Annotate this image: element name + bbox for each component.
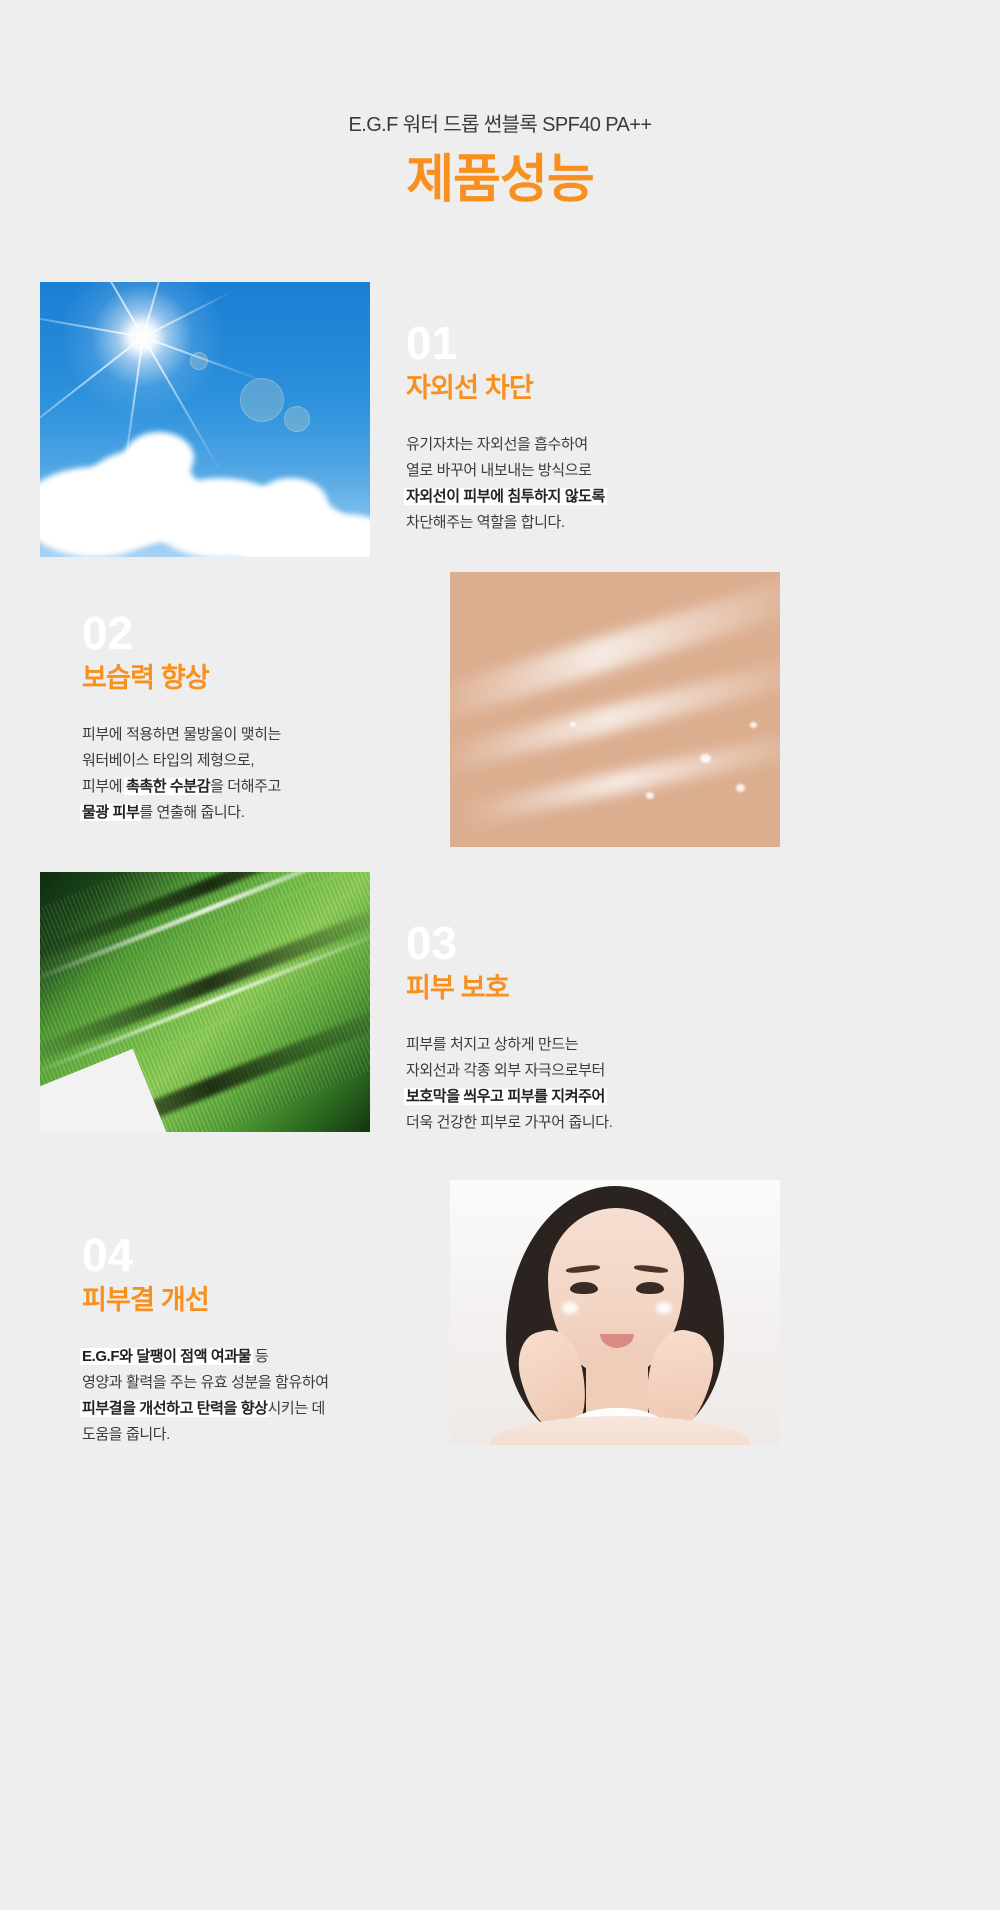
page-header: E.G.F 워터 드롭 썬블록 SPF40 PA++ 제품성능 <box>0 0 1000 211</box>
feature-text-03: 03 피부 보호 피부를 처지고 상하게 만드는 자외선과 각종 외부 자극으로… <box>406 920 826 1136</box>
body-line: 피부에 촉촉한 수분감을 더해주고 <box>82 774 442 800</box>
body-line: 유기자차는 자외선을 흡수하여 <box>406 432 826 458</box>
feature-heading-04: 피부결 개선 <box>82 1284 442 1318</box>
body-line: 차단해주는 역할을 합니다. <box>406 510 826 536</box>
product-subtitle: E.G.F 워터 드롭 썬블록 SPF40 PA++ <box>0 113 1000 137</box>
cloud-shape <box>254 478 328 530</box>
product-performance-page: E.G.F 워터 드롭 썬블록 SPF40 PA++ 제품성능 <box>0 0 1000 1910</box>
feature-section-02: 02 보습력 향상 피부에 적용하면 물방울이 맺히는 워터베이스 타입의 제형… <box>0 572 1000 852</box>
feature-text-01: 01 자외선 차단 유기자차는 자외선을 흡수하여 열로 바꾸어 내보내는 방식… <box>406 320 826 536</box>
feature-heading-03: 피부 보호 <box>406 972 826 1006</box>
model-eye <box>636 1282 664 1294</box>
water-droplet <box>700 754 711 763</box>
lens-flare <box>284 406 310 432</box>
body-line: 열로 바꾸어 내보내는 방식으로 <box>406 458 826 484</box>
body-line: 피부에 적용하면 물방울이 맺히는 <box>82 722 442 748</box>
water-droplet <box>646 792 654 799</box>
sun-sky-photo <box>40 282 370 557</box>
feature-number-03: 03 <box>406 920 826 966</box>
body-line: 워터베이스 타입의 제형으로, <box>82 748 442 774</box>
water-droplet <box>736 784 745 792</box>
body-line: 피부결을 개선하고 탄력을 향상시키는 데 <box>82 1396 442 1422</box>
sun-ray-icon <box>143 291 233 338</box>
feature-heading-02: 보습력 향상 <box>82 662 442 696</box>
feature-number-04: 04 <box>82 1232 442 1278</box>
feature-body-02: 피부에 적용하면 물방울이 맺히는 워터베이스 타입의 제형으로, 피부에 촉촉… <box>82 722 442 826</box>
water-droplet <box>750 722 757 728</box>
sky-gradient <box>40 282 370 557</box>
green-leaf-photo <box>40 872 370 1132</box>
body-line: 영양과 활력을 주는 유효 성분을 함유하여 <box>82 1370 442 1396</box>
feature-body-04: E.G.F와 달팽이 점액 여과물 등 영양과 활력을 주는 유효 성분을 함유… <box>82 1344 442 1448</box>
cream-dab <box>656 1302 672 1314</box>
model-eye <box>570 1282 598 1294</box>
feature-section-01: 01 자외선 차단 유기자차는 자외선을 흡수하여 열로 바꾸어 내보내는 방식… <box>0 282 1000 562</box>
body-line: 피부를 처지고 상하게 만드는 <box>406 1032 826 1058</box>
skin-gradient <box>450 572 780 847</box>
skin-texture-photo <box>450 572 780 847</box>
model-shoulder <box>490 1416 750 1445</box>
feature-body-01: 유기자차는 자외선을 흡수하여 열로 바꾸어 내보내는 방식으로 자외선이 피부… <box>406 432 826 536</box>
lens-flare <box>190 352 208 370</box>
body-line: 더욱 건강한 피부로 가꾸어 줍니다. <box>406 1110 826 1136</box>
feature-text-02: 02 보습력 향상 피부에 적용하면 물방울이 맺히는 워터베이스 타입의 제형… <box>82 610 442 826</box>
body-line: 보호막을 씌우고 피부를 지켜주어 <box>406 1084 826 1110</box>
feature-section-04: 04 피부결 개선 E.G.F와 달팽이 점액 여과물 등 영양과 활력을 주는… <box>0 1180 1000 1480</box>
cloud-shape <box>124 432 194 484</box>
body-line: 자외선이 피부에 침투하지 않도록 <box>406 484 826 510</box>
feature-number-01: 01 <box>406 320 826 366</box>
feature-section-03: 03 피부 보호 피부를 처지고 상하게 만드는 자외선과 각종 외부 자극으로… <box>0 872 1000 1157</box>
feature-number-02: 02 <box>82 610 442 656</box>
feature-heading-01: 자외선 차단 <box>406 372 826 406</box>
water-droplet <box>570 722 576 727</box>
page-title: 제품성능 <box>0 151 1000 211</box>
body-line: 자외선과 각종 외부 자극으로부터 <box>406 1058 826 1084</box>
leaf-gradient <box>40 872 370 1132</box>
body-line: 도움을 줍니다. <box>82 1422 442 1448</box>
feature-body-03: 피부를 처지고 상하게 만드는 자외선과 각종 외부 자극으로부터 보호막을 씌… <box>406 1032 826 1136</box>
body-line: E.G.F와 달팽이 점액 여과물 등 <box>82 1344 442 1370</box>
cream-dab <box>562 1302 578 1314</box>
model-face-photo <box>450 1180 780 1445</box>
body-line: 물광 피부를 연출해 줍니다. <box>82 800 442 826</box>
model-portrait <box>450 1180 780 1445</box>
feature-text-04: 04 피부결 개선 E.G.F와 달팽이 점액 여과물 등 영양과 활력을 주는… <box>82 1232 442 1448</box>
lens-flare <box>240 378 284 422</box>
